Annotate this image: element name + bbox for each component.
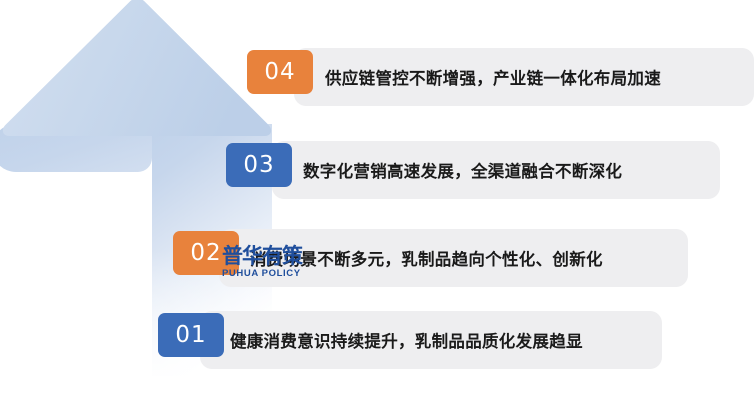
row-number-badge[interactable]: 02 [173, 231, 239, 275]
row-label: 健康消费意识持续提升，乳制品品质化发展趋显 [230, 311, 583, 369]
list-item[interactable]: 04 供应链管控不断增强，产业链一体化布局加速 [247, 48, 754, 106]
row-number-badge[interactable]: 03 [226, 143, 292, 187]
row-label: 供应链管控不断增强，产业链一体化布局加速 [325, 48, 661, 106]
infographic-canvas: 04 供应链管控不断增强，产业链一体化布局加速 03 数字化营销高速发展，全渠道… [0, 0, 754, 402]
list-item[interactable]: 02 消费场景不断多元，乳制品趋向个性化、创新化 [173, 229, 688, 287]
row-number-badge[interactable]: 01 [158, 313, 224, 357]
list-item[interactable]: 03 数字化营销高速发展，全渠道融合不断深化 [226, 141, 720, 199]
row-number-badge[interactable]: 04 [247, 50, 313, 94]
row-label: 消费场景不断多元，乳制品趋向个性化、创新化 [250, 229, 603, 287]
row-label: 数字化营销高速发展，全渠道融合不断深化 [303, 141, 622, 199]
list-item[interactable]: 01 健康消费意识持续提升，乳制品品质化发展趋显 [158, 311, 662, 369]
